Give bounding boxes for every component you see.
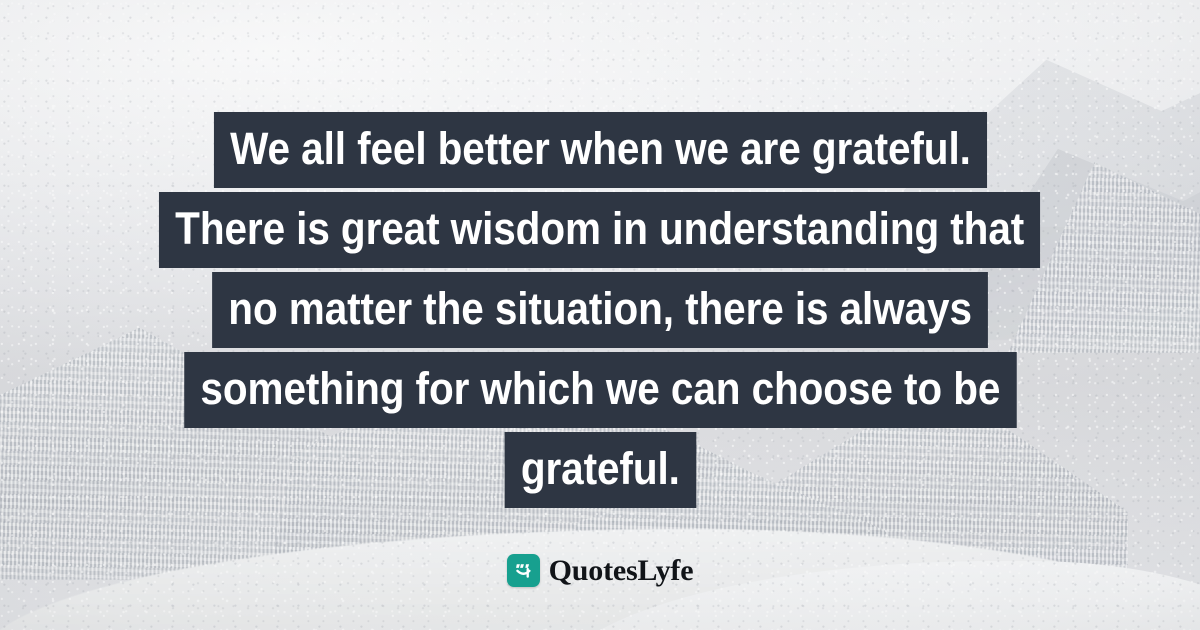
quote-line: We all feel better when we are grateful. (213, 112, 986, 188)
quote-line: grateful. (504, 432, 695, 508)
quote-line: There is great wisdom in understanding t… (159, 192, 1040, 268)
quote-card: We all feel better when we are grateful.… (0, 0, 1200, 630)
quote-smiley-icon (507, 554, 540, 587)
brand-watermark[interactable]: QuotesLyfe (0, 554, 1200, 587)
quote-text-block: We all feel better when we are grateful.… (0, 112, 1200, 508)
brand-name: QuotesLyfe (549, 556, 694, 586)
quote-line: no matter the situation, there is always (212, 272, 988, 348)
quote-line: something for which we can choose to be (184, 352, 1016, 428)
